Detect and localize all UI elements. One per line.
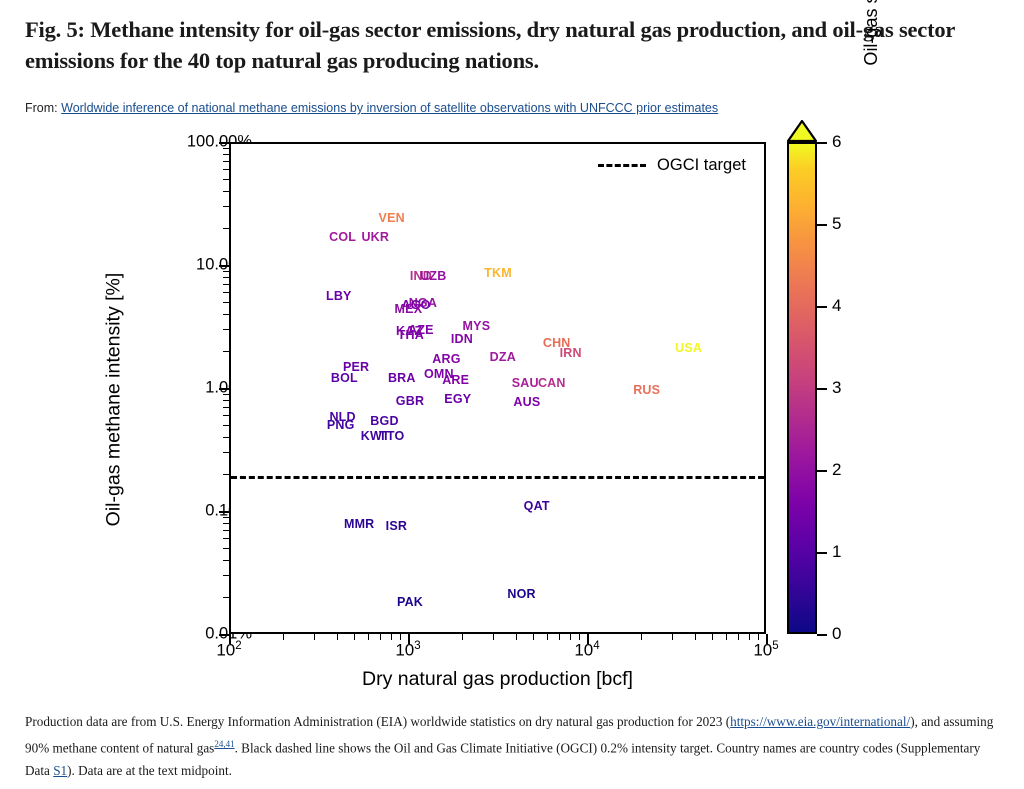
x-minor-tick xyxy=(726,634,727,640)
data-point-sau: SAU xyxy=(512,376,539,390)
plot-legend: OGCI target xyxy=(598,156,746,175)
data-point-bol: BOL xyxy=(331,371,358,385)
data-point-dza: DZA xyxy=(490,350,516,364)
y-axis-label: Oil-gas methane intensity [%] xyxy=(103,190,126,610)
data-point-png: PNG xyxy=(327,418,355,432)
data-point-ukr: UKR xyxy=(361,230,389,244)
colorbar-tick-mark-6 xyxy=(817,142,827,144)
data-point-can: CAN xyxy=(538,376,566,390)
colorbar-tick-label-0: 0 xyxy=(832,624,841,644)
x-minor-tick xyxy=(283,634,284,640)
x-minor-tick xyxy=(391,634,392,640)
colorbar-title: Oil-gas sector methane emissions [Tg CH4… xyxy=(860,0,913,160)
data-point-bra: BRA xyxy=(388,371,416,385)
legend-dashed-line-icon xyxy=(598,164,646,167)
scatter-plot-area: VENCOLUKRTKMINDUZBLBYNGAAGOMEXMYSAZEKAZT… xyxy=(229,142,766,634)
x-minor-tick xyxy=(738,634,739,640)
colorbar: 0123456 xyxy=(787,142,817,634)
x-minor-tick xyxy=(672,634,673,640)
figure-source-line: From: Worldwide inference of national me… xyxy=(25,101,718,115)
figure-container: Fig. 5: Methane intensity for oil-gas se… xyxy=(0,0,1024,789)
x-minor-tick xyxy=(533,634,534,640)
data-point-egy: EGY xyxy=(444,392,471,406)
y-tick-mark-2 xyxy=(219,388,229,390)
y-tick-mark-0 xyxy=(219,142,229,144)
x-minor-tick xyxy=(559,634,560,640)
x-tick-mark-1 xyxy=(408,634,410,644)
data-point-bgd: BGD xyxy=(370,414,398,428)
data-point-mmr: MMR xyxy=(344,517,374,531)
data-point-qat: QAT xyxy=(524,499,550,513)
supplementary-data-link[interactable]: S1 xyxy=(53,763,67,778)
colorbar-tick-mark-0 xyxy=(817,634,827,636)
colorbar-tick-mark-2 xyxy=(817,470,827,472)
x-tick-mark-2 xyxy=(587,634,589,644)
data-point-gbr: GBR xyxy=(396,394,424,408)
x-minor-tick xyxy=(337,634,338,640)
eia-link[interactable]: https://www.eia.gov/international/ xyxy=(730,714,910,729)
figure-caption: Production data are from U.S. Energy Inf… xyxy=(25,710,1000,782)
data-point-usa: USA xyxy=(675,341,702,355)
x-minor-tick xyxy=(462,634,463,640)
caption-references[interactable]: 24,41 xyxy=(214,739,234,749)
data-point-col: COL xyxy=(329,230,356,244)
x-minor-tick xyxy=(547,634,548,640)
x-minor-tick xyxy=(516,634,517,640)
x-minor-tick xyxy=(641,634,642,640)
figure-title: Fig. 5: Methane intensity for oil-gas se… xyxy=(25,14,1000,76)
colorbar-tick-label-2: 2 xyxy=(832,460,841,480)
x-minor-tick xyxy=(712,634,713,640)
x-minor-tick xyxy=(354,634,355,640)
data-point-tto: TTO xyxy=(379,429,404,443)
colorbar-tick-label-1: 1 xyxy=(832,542,841,562)
data-point-isr: ISR xyxy=(386,519,407,533)
caption-part4: ). Data are at the text midpoint. xyxy=(67,763,232,778)
data-point-tkm: TKM xyxy=(484,266,512,280)
data-point-lby: LBY xyxy=(326,289,352,303)
colorbar-tick-label-4: 4 xyxy=(832,296,841,316)
colorbar-gradient xyxy=(787,142,817,634)
x-minor-tick xyxy=(400,634,401,640)
colorbar-tick-mark-1 xyxy=(817,552,827,554)
x-tick-mark-0 xyxy=(229,634,231,644)
data-point-nor: NOR xyxy=(507,587,535,601)
colorbar-tick-mark-3 xyxy=(817,388,827,390)
colorbar-tick-label-3: 3 xyxy=(832,378,841,398)
data-point-are: ARE xyxy=(442,373,469,387)
y-tick-mark-3 xyxy=(219,511,229,513)
legend-label-ogci: OGCI target xyxy=(657,156,746,175)
source-article-link[interactable]: Worldwide inference of national methane … xyxy=(61,101,718,115)
colorbar-title-line1: Oil-gas sector methane emissions xyxy=(861,0,881,66)
data-point-irn: IRN xyxy=(560,346,582,360)
x-minor-tick xyxy=(314,634,315,640)
data-point-uzb: UZB xyxy=(420,269,446,283)
data-point-ven: VEN xyxy=(379,211,405,225)
colorbar-title-line2: [Tg CH4 yr−1] xyxy=(883,0,913,160)
x-minor-tick xyxy=(368,634,369,640)
x-axis-label: Dry natural gas production [bcf] xyxy=(229,668,766,691)
caption-part1: Production data are from U.S. Energy Inf… xyxy=(25,714,730,729)
data-point-tha: THA xyxy=(398,328,424,342)
x-minor-tick xyxy=(570,634,571,640)
data-point-idn: IDN xyxy=(451,332,473,346)
colorbar-tick-mark-5 xyxy=(817,224,827,226)
y-tick-mark-4 xyxy=(219,634,229,636)
from-label: From: xyxy=(25,101,58,115)
x-minor-tick xyxy=(380,634,381,640)
x-minor-tick xyxy=(758,634,759,640)
data-point-mex: MEX xyxy=(395,302,423,316)
data-point-pak: PAK xyxy=(397,595,423,609)
data-point-aus: AUS xyxy=(513,395,540,409)
colorbar-tick-mark-4 xyxy=(817,306,827,308)
x-minor-tick xyxy=(749,634,750,640)
colorbar-tick-label-5: 5 xyxy=(832,214,841,234)
ogci-target-line xyxy=(231,476,764,479)
data-point-arg: ARG xyxy=(432,352,460,366)
colorbar-tick-label-6: 6 xyxy=(832,132,841,152)
x-minor-tick xyxy=(493,634,494,640)
x-minor-tick xyxy=(579,634,580,640)
y-tick-mark-1 xyxy=(219,265,229,267)
x-minor-tick xyxy=(695,634,696,640)
data-point-rus: RUS xyxy=(633,383,660,397)
x-tick-mark-3 xyxy=(766,634,768,644)
colorbar-extend-arrow-icon xyxy=(787,120,817,142)
